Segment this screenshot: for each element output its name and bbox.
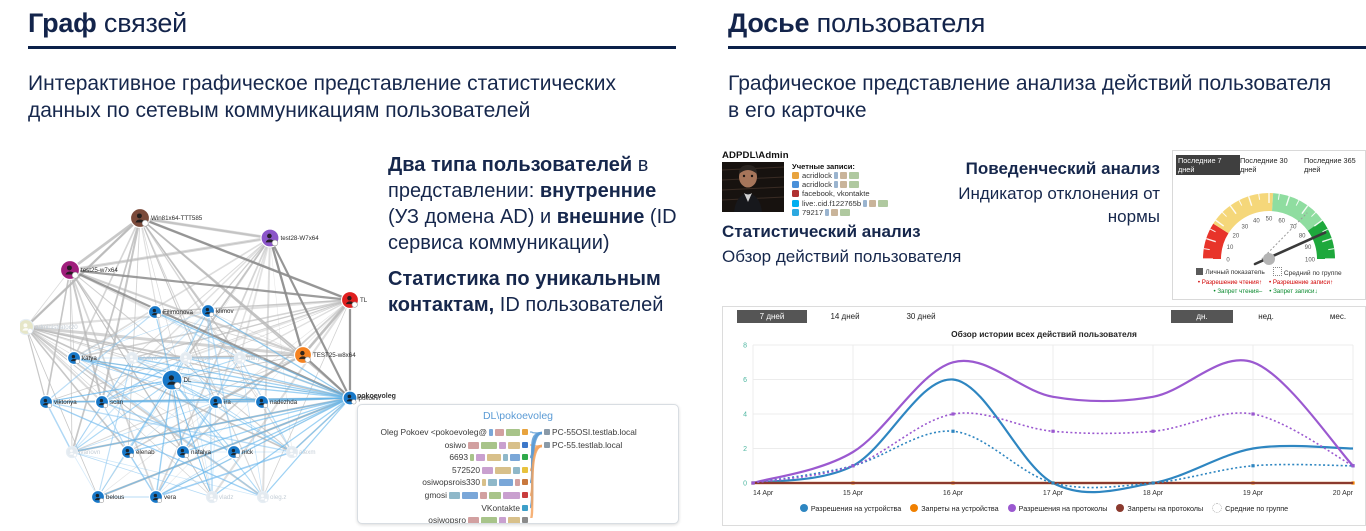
chart-y-tick: 0 xyxy=(743,481,747,488)
account-row: 79217 xyxy=(792,208,888,217)
graph-node-label: klimov xyxy=(216,308,234,315)
redacted-block xyxy=(515,479,520,486)
tooltip-left-node-icon xyxy=(522,479,528,485)
redacted-block xyxy=(462,492,478,499)
chart-grain-tab-2[interactable]: мес. xyxy=(1315,310,1361,323)
gauge-tick-label: 40 xyxy=(1253,219,1260,225)
chart-gridlines xyxy=(753,345,1353,483)
chart-data-point xyxy=(1051,430,1054,433)
chart-legend-item-1: Запреты на устройства xyxy=(910,504,998,513)
chart-range-tab-2[interactable]: 30 дней xyxy=(891,310,951,323)
right-title-rule xyxy=(728,46,1366,49)
redacted-block xyxy=(825,209,829,216)
redacted-block xyxy=(840,172,847,179)
graph-node-label: ivanovn xyxy=(79,449,101,456)
gauge-tab-1[interactable]: Последние 30 дней xyxy=(1238,155,1304,175)
account-icon xyxy=(792,181,799,188)
redacted-block xyxy=(488,479,497,486)
redacted-block xyxy=(834,172,838,179)
accounts-list: acridlockacridlockfacebook, vkontakteliv… xyxy=(792,171,888,217)
graph-node-label: ira xyxy=(224,399,231,406)
graph-node-label: zhenya xyxy=(193,355,214,362)
tooltip-left-item: osiwo xyxy=(380,439,530,452)
redacted-block xyxy=(487,454,501,461)
redacted-block xyxy=(481,442,497,449)
gauge-tick-label: 30 xyxy=(1242,224,1249,230)
chart-x-tick: 15 Apr xyxy=(843,490,864,497)
bullet-1-bold-1: Два типа пользователей xyxy=(388,154,632,176)
chart-legend-dot xyxy=(1008,504,1016,512)
redacted-block xyxy=(834,181,838,188)
redacted-block xyxy=(489,429,493,436)
redacted-block xyxy=(508,442,520,449)
chart-legend-item-0: Разрешения на устройства xyxy=(800,504,901,513)
redacted-block xyxy=(878,200,888,207)
tooltip-anchor-label: pokoevoleg xyxy=(357,393,396,400)
redacted-block xyxy=(840,209,850,216)
gauge-metric-item: • Разрешение записи↑ xyxy=(1269,279,1333,286)
tooltip-left-item-text: 572520 xyxy=(452,465,480,475)
chart-data-point xyxy=(1351,464,1354,467)
tooltip-left-item: 6693 xyxy=(380,451,530,464)
network-graph[interactable]: Win81x64-TTT585test28-W7x64test25-w7x64T… xyxy=(20,190,380,520)
left-title-bold: Граф xyxy=(28,8,97,38)
chart-legend: Разрешения на устройстваЗапреты на устро… xyxy=(723,503,1365,513)
tooltip-right-list: PC-55OSI.testlab.localPC-55.testlab.loca… xyxy=(542,426,637,451)
graph-node[interactable]: alexm xyxy=(287,447,316,458)
chart-y-tick: 4 xyxy=(743,412,747,419)
tooltip-right-item-text: PC-55.testlab.local xyxy=(552,440,622,450)
chart-data-point xyxy=(1051,481,1054,484)
tooltip-left-node-icon xyxy=(522,505,528,511)
tooltip-left-item-text: gmosi xyxy=(425,490,447,500)
network-graph-canvas[interactable]: Win81x64-TTT585test28-W7x64test25-w7x64T… xyxy=(20,190,380,520)
bullet-2-plain-1: ID пользователей xyxy=(494,294,663,316)
graph-node-label: elenab xyxy=(136,449,155,456)
chart-x-tick: 18 Apr xyxy=(1143,490,1164,497)
graph-node-label: alexm xyxy=(299,449,316,456)
redacted-block xyxy=(499,479,513,486)
graph-node[interactable]: TL xyxy=(342,292,368,309)
tooltip-right-item: PC-55.testlab.local xyxy=(542,439,637,452)
behavior-analysis-label: Поведенческий анализ xyxy=(925,158,1160,180)
chart-legend-label: Разрешения на устройства xyxy=(811,504,901,513)
graph-node[interactable]: vera xyxy=(150,491,177,504)
bullet-1-bold-3: внешние xyxy=(557,206,645,228)
graph-node[interactable]: nastya xyxy=(127,353,158,364)
chart-data-point xyxy=(1151,430,1154,433)
chart-legend-label: Запреты на протоколы xyxy=(1127,504,1203,513)
gauge-legend-label: Личный показатель xyxy=(1205,269,1264,276)
tooltip-left-node-icon xyxy=(522,442,528,448)
tooltip-left-item-text: 6693 xyxy=(449,452,468,462)
gauge-metric-item: • Запрет чтения– xyxy=(1213,288,1262,295)
gauge-tick-label: 0 xyxy=(1226,258,1230,264)
graph-node-label: belous xyxy=(106,494,124,501)
tooltip-right-node-icon xyxy=(544,442,550,448)
chart-y-tick: 8 xyxy=(743,343,747,350)
account-text: facebook, vkontakte xyxy=(802,189,870,198)
gauge-metric-item: • Запрет записи↓ xyxy=(1269,288,1317,295)
chart-range-tab-0[interactable]: 7 дней xyxy=(737,310,807,323)
redacted-block xyxy=(869,200,876,207)
graph-node[interactable]: test28-W7x64 xyxy=(261,229,319,247)
slide-root: Граф связей Интерактивное графическое пр… xyxy=(0,0,1366,531)
tooltip-left-item: 572520 xyxy=(380,464,530,477)
gauge-legend-label: Средний по группе xyxy=(1284,270,1342,277)
tooltip-left-item-text: osiwopsrois330 xyxy=(422,477,480,487)
right-title-rest: пользователя xyxy=(809,8,985,38)
chart-y-tick: 2 xyxy=(743,446,747,453)
gauge-tick-label: 60 xyxy=(1278,219,1285,225)
redacted-block xyxy=(489,492,501,499)
gauge-legend-primary: Личный показательСредний по группе xyxy=(1177,267,1361,277)
graph-node-label: test28-W7x64 xyxy=(281,235,320,242)
redacted-block xyxy=(499,517,506,524)
gauge-metric-row-0: • Разрешение чтения↑• Разрешение записи↑ xyxy=(1177,279,1361,288)
account-text: acridlock xyxy=(802,171,832,180)
redacted-block xyxy=(495,429,504,436)
redacted-block xyxy=(449,492,460,499)
redacted-block xyxy=(495,467,511,474)
graph-node-label: nadezhda xyxy=(270,399,298,406)
redacted-block xyxy=(503,492,520,499)
graph-node-label: viktoriya xyxy=(54,399,77,406)
gauge-metric-row-1: • Запрет чтения–• Запрет записи↓ xyxy=(1177,288,1361,297)
chart-legend-dot xyxy=(1116,504,1124,512)
chart-data-point xyxy=(1151,481,1154,484)
account-row: live:.cid.f122765b xyxy=(792,199,888,208)
left-panel-lead: Интерактивное графическое представление … xyxy=(28,70,678,124)
chart-data-point xyxy=(1251,464,1254,467)
redacted-block xyxy=(468,442,479,449)
chart-grain-tab-1[interactable]: нед. xyxy=(1243,310,1289,323)
tooltip-title: DL\pokoevoleg xyxy=(358,410,678,422)
statistical-analysis-sublabel: Обзор действий пользователя xyxy=(722,247,961,267)
graph-node-label: danya xyxy=(247,355,264,362)
redacted-block xyxy=(476,454,485,461)
gauge-legend-swatch xyxy=(1273,267,1282,276)
redacted-block xyxy=(506,429,520,436)
gauge-tab-0[interactable]: Последние 7 дней xyxy=(1176,155,1240,175)
graph-node-label: natalya xyxy=(191,449,212,456)
user-avatar xyxy=(722,162,784,212)
redacted-block xyxy=(849,172,859,179)
redacted-block xyxy=(482,479,486,486)
gauge-tick-label: 20 xyxy=(1232,233,1239,239)
account-row: acridlock xyxy=(792,171,888,180)
left-bullet-list: Два типа пользователей в представлении: … xyxy=(388,152,678,328)
gauge-metric-item: • Разрешение чтения↑ xyxy=(1198,279,1262,286)
tooltip-left-item: VKontakte xyxy=(380,502,530,515)
behavior-gauge-widget[interactable]: Последние 7 днейПоследние 30 днейПоследн… xyxy=(1172,150,1366,300)
account-icon xyxy=(792,209,799,216)
chart-x-tick: 17 Apr xyxy=(1043,490,1064,497)
gauge-tick-label: 80 xyxy=(1299,233,1306,239)
redacted-block xyxy=(481,517,497,524)
bullet-1-plain-2: (УЗ домена AD) и xyxy=(388,206,557,228)
graph-node-label: oleg.z xyxy=(270,494,287,501)
chart-data-point xyxy=(951,412,954,415)
node-detail-tooltip[interactable]: DL\pokoevoleg Oleg Pokoev <pokoevoleg@os… xyxy=(357,404,679,524)
graph-node-label: nastya xyxy=(139,355,158,362)
chart-legend-label: Запреты на устройства xyxy=(921,504,998,513)
tooltip-right-item: PC-55OSI.testlab.local xyxy=(542,426,637,439)
tooltip-left-node-icon xyxy=(522,429,528,435)
accounts-title: Учетные записи: xyxy=(792,162,855,171)
chart-legend-dot xyxy=(1212,503,1222,513)
graph-node-label: Win81x64-TTT585 xyxy=(151,215,203,222)
activity-chart-card[interactable]: 7 дней14 дней30 днейдн.нед.мес. Обзор ис… xyxy=(722,306,1366,526)
chart-plot: 02468 14 Apr15 Apr16 Apr17 Apr18 Apr19 A… xyxy=(723,337,1365,505)
gauge-legend-item-0: Личный показатель xyxy=(1196,268,1264,276)
tooltip-body: Oleg Pokoev <pokoevoleg@osiwo6693572520o… xyxy=(358,422,678,518)
chart-x-tick: 16 Apr xyxy=(943,490,964,497)
redacted-block xyxy=(480,492,487,499)
chart-legend-item-3: Запреты на протоколы xyxy=(1116,504,1203,513)
chart-y-ticks: 02468 xyxy=(743,343,747,488)
tooltip-left-node-icon xyxy=(522,517,528,523)
gauge-tick-label: 10 xyxy=(1227,245,1234,251)
tooltip-right-node-icon xyxy=(544,429,550,435)
chart-y-tick: 6 xyxy=(743,377,747,384)
left-title-rest: связей xyxy=(97,8,187,38)
user-name: ADPDL\Admin xyxy=(722,150,902,161)
behavior-analysis-sublabel: Индикатор отклонения от нормы xyxy=(918,182,1160,228)
tooltip-left-item: osiwopsro xyxy=(380,514,530,524)
tooltip-left-item-text: osiwo xyxy=(445,440,466,450)
gauge-legend-swatch xyxy=(1196,268,1203,275)
gauge-tab-2[interactable]: Последние 365 дней xyxy=(1302,155,1364,175)
graph-node-label: nick xyxy=(242,449,254,456)
left-panel: Граф связей Интерактивное графическое пр… xyxy=(0,0,690,531)
redacted-block xyxy=(468,517,479,524)
right-title-bold: Досье xyxy=(728,8,809,38)
redacted-block xyxy=(508,517,520,524)
graph-node-label: scan xyxy=(110,399,124,406)
tooltip-left-item: Oleg Pokoev <pokoevoleg@ xyxy=(380,426,530,439)
chart-x-tick: 19 Apr xyxy=(1243,490,1264,497)
chart-grain-tab-0[interactable]: дн. xyxy=(1171,310,1233,323)
graph-node-label: test25-w7x64 xyxy=(81,267,118,274)
redacted-block xyxy=(499,442,506,449)
graph-node-label: vladz xyxy=(219,494,233,501)
gauge-tick-label: 50 xyxy=(1266,217,1273,223)
graph-node[interactable]: oleg.z xyxy=(258,492,287,503)
graph-node-label: TEST25-w8x64 xyxy=(313,352,356,359)
redacted-block xyxy=(513,467,520,474)
graph-node-label: DL xyxy=(184,377,192,384)
graph-node-label: vera xyxy=(164,494,177,501)
tooltip-right-item-text: PC-55OSI.testlab.local xyxy=(552,427,637,437)
chart-legend-dot xyxy=(800,504,808,512)
gauge-legend-secondary: • Разрешение чтения↑• Разрешение записи↑… xyxy=(1177,279,1361,296)
redacted-block xyxy=(849,181,859,188)
graph-node-label: katya xyxy=(82,355,97,362)
left-panel-title: Граф связей xyxy=(28,6,187,40)
account-icon xyxy=(792,200,799,207)
tooltip-left-list: Oleg Pokoev <pokoevoleg@osiwo6693572520o… xyxy=(380,426,530,524)
redacted-block xyxy=(482,467,493,474)
redacted-block xyxy=(510,454,520,461)
account-text: live:.cid.f122765b xyxy=(802,199,861,208)
redacted-block xyxy=(863,200,867,207)
right-panel-lead: Графическое представление анализа действ… xyxy=(728,70,1348,124)
tooltip-left-node-icon xyxy=(522,492,528,498)
account-text: 79217 xyxy=(802,208,823,217)
bullet-statistics: Статистика по уникальным контактам, ID п… xyxy=(388,266,678,318)
user-profile-card[interactable]: ADPDL\Admin Учетные записи: acridlockacr… xyxy=(722,150,902,212)
graph-node[interactable]: vladz xyxy=(207,492,234,503)
chart-x-ticks: 14 Apr15 Apr16 Apr17 Apr18 Apr19 Apr20 A… xyxy=(753,490,1354,497)
left-title-rule xyxy=(28,46,676,49)
gauge-tick-label: 100 xyxy=(1305,258,1316,264)
gauge-tick-label: 90 xyxy=(1305,245,1312,251)
gauge-legend-item-1: Средний по группе xyxy=(1273,267,1342,277)
graph-nodes[interactable]: Win81x64-TTT585test28-W7x64test25-w7x64T… xyxy=(20,209,380,504)
redacted-block xyxy=(470,454,474,461)
redacted-block xyxy=(840,181,847,188)
gauge-dial: 0102030405060708090100 xyxy=(1173,173,1365,269)
account-icon xyxy=(792,172,799,179)
chart-data-point xyxy=(851,464,854,467)
redacted-block xyxy=(831,209,838,216)
account-row: facebook, vkontakte xyxy=(792,189,888,198)
bullet-user-types: Два типа пользователей в представлении: … xyxy=(388,152,678,256)
graph-node-label: TL xyxy=(360,297,368,304)
account-text: acridlock xyxy=(802,180,832,189)
graph-node[interactable]: DL xyxy=(162,370,192,390)
tooltip-left-item-text: osiwopsro xyxy=(428,515,466,524)
chart-range-tab-1[interactable]: 14 дней xyxy=(815,310,875,323)
tooltip-left-item: osiwopsrois330 xyxy=(380,476,530,489)
tooltip-left-item: gmosi xyxy=(380,489,530,502)
chart-data-point xyxy=(1251,412,1254,415)
tooltip-left-item-text: VKontakte xyxy=(481,503,520,513)
chart-legend-label: Разрешения на протоколы xyxy=(1019,504,1108,513)
bullet-1-bold-2: внутренние xyxy=(540,180,656,202)
chart-tabs[interactable]: 7 дней14 дней30 днейдн.нед.мес. xyxy=(723,307,1365,327)
graph-node-label: Filimonova xyxy=(163,309,193,316)
chart-data-point xyxy=(951,430,954,433)
chart-x-tick: 14 Apr xyxy=(753,490,774,497)
account-icon xyxy=(792,190,799,197)
graph-node-label: administrator20 xyxy=(35,324,78,331)
chart-legend-dot xyxy=(910,504,918,512)
right-panel-title: Досье пользователя xyxy=(728,6,985,40)
chart-legend-item-4: Средние по группе xyxy=(1212,503,1288,513)
account-row: acridlock xyxy=(792,180,888,189)
statistical-analysis-label: Статистический анализ xyxy=(722,222,921,242)
redacted-block xyxy=(503,454,508,461)
chart-legend-item-2: Разрешения на протоколы xyxy=(1008,504,1108,513)
tooltip-left-item-text: Oleg Pokoev <pokoevoleg@ xyxy=(380,427,487,437)
tooltip-left-node-icon xyxy=(522,467,528,473)
graph-node[interactable]: ira xyxy=(210,396,232,409)
chart-legend-label: Средние по группе xyxy=(1225,504,1288,513)
chart-data-point xyxy=(751,481,754,484)
tooltip-left-node-icon xyxy=(522,454,528,460)
chart-x-tick: 20 Apr xyxy=(1333,490,1354,497)
